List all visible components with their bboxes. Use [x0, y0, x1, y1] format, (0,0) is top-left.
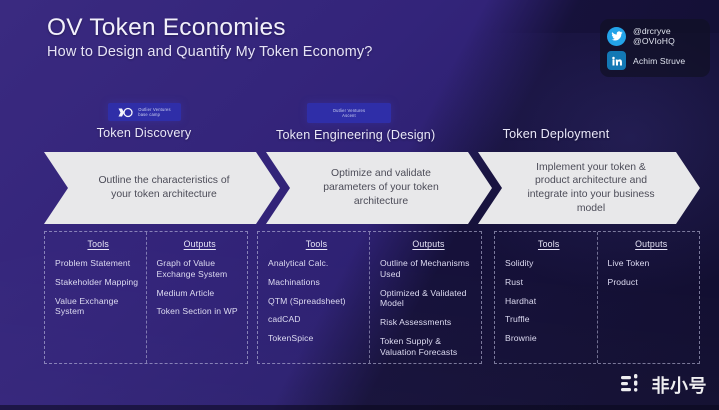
chevron-deployment: Implement your token & product architect…	[478, 152, 700, 224]
chevron-engineering: Optimize and validate parameters of your…	[266, 152, 492, 224]
stage-header-discovery: Outlier Ventures base camp Token Discove…	[80, 103, 208, 140]
list-item: Hardhat	[505, 296, 593, 307]
twitter-row[interactable]: @drcryve @OVIoHQ	[607, 26, 703, 47]
column-tools-deployment: Tools Solidity Rust Hardhat Truffle Brow…	[495, 232, 597, 363]
chevron-line: Optimize and validate	[323, 167, 439, 181]
column-outputs-deployment: Outputs Live Token Product	[597, 232, 700, 363]
list-item: Solidity	[505, 258, 593, 269]
feixiaohao-logo-icon	[621, 373, 647, 398]
column-heading: Tools	[505, 239, 593, 249]
list-item: Problem Statement	[55, 258, 142, 269]
chevron-line: product architecture and	[527, 174, 654, 188]
logo-program: base camp	[138, 112, 160, 117]
list-item: Risk Assessments	[380, 317, 477, 328]
column-outputs-discovery: Outputs Graph of Value Exchange System M…	[146, 232, 248, 363]
list-item: Optimized & Validated Model	[380, 288, 477, 310]
linkedin-row[interactable]: Achim Struve	[607, 51, 703, 70]
list-item: Stakeholder Mapping	[55, 277, 142, 288]
list-item: Machinations	[268, 277, 365, 288]
watermark: 非小号	[621, 372, 708, 398]
stage-title-deployment: Token Deployment	[487, 127, 625, 141]
list-item: Analytical Calc.	[268, 258, 365, 269]
watermark-text: 非小号	[652, 372, 708, 398]
list-item: Value Exchange System	[55, 296, 142, 318]
list-item: cadCAD	[268, 314, 365, 325]
twitter-handle-secondary: @OVIoHQ	[633, 36, 675, 46]
twitter-handle-primary: @drcryve	[633, 26, 671, 36]
list-item: Product	[608, 277, 696, 288]
tools-list-discovery: Problem Statement Stakeholder Mapping Va…	[55, 258, 142, 317]
panel-engineering: Tools Analytical Calc. Machinations QTM …	[257, 231, 482, 364]
stage-title-discovery: Token Discovery	[80, 126, 208, 140]
column-tools-discovery: Tools Problem Statement Stakeholder Mapp…	[45, 232, 146, 363]
player-bottom-bar	[0, 405, 719, 410]
chevron-line: parameters of your token	[323, 181, 439, 195]
list-item: Token Section in WP	[157, 306, 244, 317]
panel-deployment: Tools Solidity Rust Hardhat Truffle Brow…	[494, 231, 700, 364]
stage-title-engineering: Token Engineering (Design)	[276, 128, 422, 142]
list-item: Truffle	[505, 314, 593, 325]
chevron-line: Implement your token &	[527, 161, 654, 175]
chevron-line: integrate into your business	[527, 188, 654, 202]
process-chevron-band: Outline the characteristics of your toke…	[44, 152, 700, 224]
list-item: Token Supply & Valuation Forecasts	[380, 336, 477, 358]
linkedin-icon	[607, 51, 626, 70]
list-item: Rust	[505, 277, 593, 288]
outlier-ventures-wordmark: Outlier Ventures base camp	[138, 107, 171, 117]
tools-list-engineering: Analytical Calc. Machinations QTM (Sprea…	[268, 258, 365, 344]
linkedin-name: Achim Struve	[633, 56, 685, 66]
column-heading: Tools	[268, 239, 365, 249]
outputs-list-discovery: Graph of Value Exchange System Medium Ar…	[157, 258, 244, 317]
list-item: Live Token	[608, 258, 696, 269]
stage-header-deployment: Token Deployment	[487, 127, 625, 141]
twitter-icon	[607, 27, 626, 46]
column-heading: Outputs	[380, 239, 477, 249]
logo-program: Ascent	[342, 113, 356, 118]
page-title: OV Token Economies	[47, 14, 286, 42]
column-tools-engineering: Tools Analytical Calc. Machinations QTM …	[258, 232, 369, 363]
chevron-line: architecture	[323, 195, 439, 209]
column-outputs-engineering: Outputs Outline of Mechanisms Used Optim…	[369, 232, 481, 363]
list-item: QTM (Spreadsheet)	[268, 296, 365, 307]
panel-discovery: Tools Problem Statement Stakeholder Mapp…	[44, 231, 248, 364]
column-heading: Outputs	[157, 239, 244, 249]
tools-list-deployment: Solidity Rust Hardhat Truffle Brownie	[505, 258, 593, 344]
column-heading: Tools	[55, 239, 142, 249]
outlier-ventures-ascent-wordmark: Outlier Ventures Ascent	[333, 108, 366, 118]
list-item: Brownie	[505, 333, 593, 344]
outputs-list-deployment: Live Token Product	[608, 258, 696, 288]
tools-outputs-panels: Tools Problem Statement Stakeholder Mapp…	[44, 231, 700, 364]
chevron-line: your token architecture	[98, 188, 229, 202]
list-item: TokenSpice	[268, 333, 365, 344]
slide-canvas: OV Token Economies How to Design and Qua…	[0, 0, 719, 410]
list-item: Graph of Value Exchange System	[157, 258, 244, 280]
outlier-ventures-mark-icon	[117, 107, 134, 118]
chevron-line: model	[527, 202, 654, 216]
column-heading: Outputs	[608, 239, 696, 249]
twitter-handles: @drcryve @OVIoHQ	[633, 26, 675, 47]
chevron-line: Outline the characteristics of	[98, 174, 229, 188]
chevron-discovery: Outline the characteristics of your toke…	[44, 152, 280, 224]
list-item: Medium Article	[157, 288, 244, 299]
social-card: @drcryve @OVIoHQ Achim Struve	[600, 19, 710, 77]
page-subtitle: How to Design and Quantify My Token Econ…	[47, 44, 373, 60]
stage-header-engineering: Outlier Ventures Ascent Token Engineerin…	[276, 103, 422, 142]
outlier-ventures-basecamp-logo: Outlier Ventures base camp	[108, 103, 181, 121]
list-item: Outline of Mechanisms Used	[380, 258, 477, 280]
outputs-list-engineering: Outline of Mechanisms Used Optimized & V…	[380, 258, 477, 358]
outlier-ventures-ascent-logo: Outlier Ventures Ascent	[307, 103, 391, 123]
